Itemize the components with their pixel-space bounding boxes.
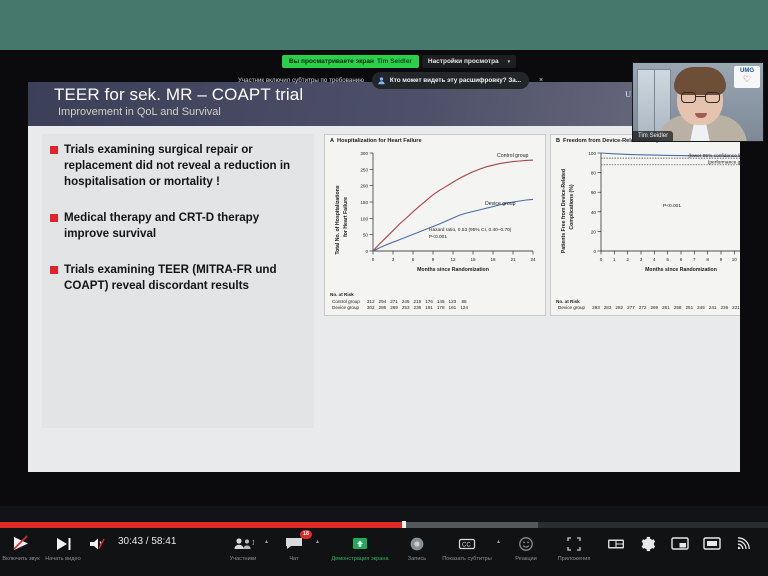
chat-label: Чат xyxy=(289,556,298,562)
svg-text:250: 250 xyxy=(360,167,368,172)
chart-a-series-label-control: Control group xyxy=(497,153,529,159)
chat-unread-badge: 18 xyxy=(300,530,312,539)
svg-text:100: 100 xyxy=(360,216,368,221)
share-screen-icon xyxy=(350,534,370,553)
chart-b-risk-table: No. at Risk Device group 293 283 282 277… xyxy=(556,299,740,312)
video-camera-icon xyxy=(54,534,72,553)
svg-text:125: 125 xyxy=(252,540,254,546)
svg-text:Total No. of Hospitalizations: Total No. of Hospitalizations xyxy=(335,185,341,254)
svg-text:200: 200 xyxy=(360,184,368,189)
chart-b-label-2: (performance goal) 88.0 xyxy=(708,160,740,166)
slide-subtitle: Improvement in QoL and Survival xyxy=(58,106,221,118)
figure-a-letter: A xyxy=(330,138,334,144)
table-row: Device group 302 286 269 253 236 191 178… xyxy=(330,305,470,312)
volume-button[interactable] xyxy=(84,528,110,553)
caption-notice-text: Участник включил субтитры по требованию xyxy=(238,77,364,84)
apps-label: Приложения xyxy=(558,556,591,562)
risk-table-header: No. at Risk xyxy=(556,299,740,306)
closed-captions-icon: CC xyxy=(457,534,477,553)
svg-text:80: 80 xyxy=(591,171,597,176)
viewing-screen-pill: Вы просматриваете экран Tim Seidler xyxy=(282,55,419,68)
svg-text:Patients Free from Device-Rela: Patients Free from Device-Related xyxy=(561,169,567,253)
bullet-square-icon xyxy=(50,214,58,222)
list-item: Medical therapy and CRT-D therapy improv… xyxy=(50,210,304,242)
chart-a-risk-table: No. at Risk Control group 312 294 271 24… xyxy=(330,292,470,312)
chart-a-annotation: Hazard ratio, 0.53 (95% CI, 0.40–0.70) xyxy=(429,227,512,233)
record-icon xyxy=(409,534,425,553)
risk-row-label: Device group xyxy=(330,305,365,312)
svg-text:300: 300 xyxy=(360,151,368,156)
chevron-up-icon[interactable]: ▴ xyxy=(497,538,500,545)
svg-text:60: 60 xyxy=(591,190,597,195)
share-screen-label: Демонстрация экрана xyxy=(331,556,388,562)
figure-panel-b: BFreedom from Device-Related Complicatio… xyxy=(550,134,740,316)
bullet-square-icon xyxy=(50,146,58,154)
svg-text:100: 100 xyxy=(588,151,596,156)
umg-logo: UMG ♡ xyxy=(734,66,760,88)
svg-text:3: 3 xyxy=(640,257,643,262)
chevron-down-icon: ▾ xyxy=(508,59,511,65)
umg-logo-mark: ♡ xyxy=(734,75,760,84)
captions-group: CC Показать субтитры ▴ xyxy=(439,528,500,562)
microphone-muted-icon xyxy=(11,534,31,553)
chart-b-annotation: P<0.001 xyxy=(663,203,681,209)
svg-text:40: 40 xyxy=(591,210,597,215)
apps-button[interactable]: Приложения xyxy=(548,528,600,562)
layout-split-button[interactable] xyxy=(600,528,632,553)
chart-a-series-label-device: Device group xyxy=(485,201,516,207)
svg-text:0: 0 xyxy=(372,257,375,262)
speaker-name-label: Tim Seidler xyxy=(633,131,673,141)
svg-text:2: 2 xyxy=(626,257,629,262)
svg-text:5: 5 xyxy=(666,257,669,262)
reactions-icon xyxy=(518,534,534,553)
chart-a-xlabel: Months since Randomization xyxy=(417,267,489,273)
participants-button[interactable]: 125 Участники xyxy=(223,528,263,562)
speaker-video-thumbnail[interactable]: UMG ♡ Tim Seidler xyxy=(632,62,764,142)
svg-text:8: 8 xyxy=(706,257,709,262)
apps-icon xyxy=(566,534,582,553)
figure-b-letter: B xyxy=(556,138,560,144)
svg-text:21: 21 xyxy=(510,257,516,262)
svg-text:for Heart Failure: for Heart Failure xyxy=(343,197,349,237)
table-row: Control group 312 294 271 245 219 176 14… xyxy=(330,299,470,306)
start-video-label: Начать видео xyxy=(45,556,81,562)
svg-text:24: 24 xyxy=(530,257,536,262)
recording-meta-strip xyxy=(0,506,768,522)
close-icon[interactable]: × xyxy=(539,77,543,84)
reactions-button[interactable]: Реакции xyxy=(504,528,548,562)
svg-text:0: 0 xyxy=(593,249,596,254)
transcript-visibility-chip[interactable]: Кто может видеть эту расшифровку? За... xyxy=(372,72,529,89)
participants-group: 125 Участники ▴ xyxy=(223,528,268,562)
risk-table-header: No. at Risk xyxy=(330,292,470,299)
chart-b-xlabel: Months since Randomization xyxy=(645,267,717,273)
start-video-button[interactable]: Начать видео xyxy=(42,528,84,562)
screen-share-banner: Вы просматриваете экран Tim Seidler Наст… xyxy=(282,55,516,68)
list-item: Trials examining TEER (MITRA-FR und COAP… xyxy=(50,262,304,294)
svg-text:50: 50 xyxy=(363,233,369,238)
svg-text:150: 150 xyxy=(360,200,368,205)
svg-text:0: 0 xyxy=(600,257,603,262)
record-label: Запись xyxy=(408,556,426,562)
meeting-control-bar: Включить звук Начать видео 30:43 / 58:41 xyxy=(0,528,768,576)
fullscreen-button[interactable] xyxy=(696,528,728,553)
svg-text:10: 10 xyxy=(732,257,738,262)
chart-b-label-1: (lower 95% confidence limit) 94.8 xyxy=(688,153,740,159)
svg-text:1: 1 xyxy=(613,257,616,262)
svg-text:18: 18 xyxy=(490,257,496,262)
list-item: Trials examining surgical repair or repl… xyxy=(50,142,304,190)
svg-text:9: 9 xyxy=(432,257,435,262)
chat-button[interactable]: 18 Чат xyxy=(274,528,314,562)
split-view-icon xyxy=(606,534,626,553)
zoom-meeting-window: Запись Вы просматриваете экран Tim Seidl… xyxy=(0,0,768,576)
participants-icon: 125 xyxy=(232,534,254,553)
svg-text:6: 6 xyxy=(412,257,415,262)
chat-group: 18 Чат ▴ xyxy=(274,528,319,562)
figure-a-title: Hospitalization for Heart Failure xyxy=(337,138,422,144)
chevron-up-icon[interactable]: ▴ xyxy=(316,538,319,545)
reactions-label: Реакции xyxy=(515,556,537,562)
transcript-visibility-text: Кто может видеть эту расшифровку? За... xyxy=(390,77,521,84)
cast-button[interactable] xyxy=(728,528,762,553)
chart-a-annotation2: P<0.001 xyxy=(429,234,447,240)
svg-text:Complications (%): Complications (%) xyxy=(569,184,575,230)
playback-time: 30:43 / 58:41 xyxy=(118,528,176,547)
svg-text:6: 6 xyxy=(680,257,683,262)
unmute-button[interactable]: Включить звук xyxy=(0,528,42,562)
bullet-text: Medical therapy and CRT-D therapy improv… xyxy=(64,210,304,242)
bullet-text: Trials examining surgical repair or repl… xyxy=(64,142,304,190)
view-options-label: Настройки просмотра xyxy=(428,58,499,65)
record-button[interactable]: Запись xyxy=(395,528,439,562)
svg-text:CC: CC xyxy=(462,542,471,548)
chevron-up-icon[interactable]: ▴ xyxy=(265,538,268,545)
captions-button[interactable]: CC Показать субтитры xyxy=(439,528,495,562)
participants-label: Участники xyxy=(230,556,257,562)
chart-b-plot: 1008060 40200 012 345 678 91011 xyxy=(551,145,740,275)
svg-text:0: 0 xyxy=(365,249,368,254)
unmute-label: Включить звук xyxy=(2,556,39,562)
captions-label: Показать субтитры xyxy=(442,556,492,562)
picture-in-picture-icon xyxy=(670,534,690,553)
speaker-muted-icon xyxy=(88,534,107,553)
svg-text:7: 7 xyxy=(693,257,696,262)
fullscreen-icon xyxy=(702,534,722,553)
risk-row-label: Device group xyxy=(556,305,590,312)
svg-text:20: 20 xyxy=(591,229,597,234)
speaker-hair xyxy=(674,67,726,95)
person-icon xyxy=(377,76,386,85)
svg-text:15: 15 xyxy=(470,257,476,262)
svg-text:9: 9 xyxy=(720,257,723,262)
viewing-screen-text: Вы просматриваете экран xyxy=(289,58,374,65)
view-options-button[interactable]: Настройки просмотра ▾ xyxy=(422,55,516,68)
figure-panel-a: AHospitalization for Heart Failure 30025… xyxy=(324,134,546,316)
bullet-text: Trials examining TEER (MITRA-FR und COAP… xyxy=(64,262,304,294)
svg-text:4: 4 xyxy=(653,257,656,262)
share-screen-button[interactable]: Демонстрация экрана xyxy=(325,528,395,562)
minimize-view-button[interactable] xyxy=(664,528,696,553)
svg-text:12: 12 xyxy=(450,257,456,262)
settings-button[interactable] xyxy=(632,528,664,553)
cast-icon xyxy=(736,534,754,553)
table-row: Device group 293 283 282 277 272 269 261… xyxy=(556,305,740,312)
figure-a-caption: AHospitalization for Heart Failure xyxy=(330,138,422,144)
caption-notice-bar: Участник включил субтитры по требованию … xyxy=(238,72,543,89)
glasses-icon xyxy=(681,92,720,103)
risk-row-label: Control group xyxy=(330,299,365,306)
chart-a-plot: 300250200 15010050 0 036 91215 182124 xyxy=(325,145,547,275)
svg-text:3: 3 xyxy=(392,257,395,262)
sharing-user-name: Tim Seidler xyxy=(377,58,412,65)
slide-bullet-list: Trials examining surgical repair or repl… xyxy=(42,134,314,428)
bullet-square-icon xyxy=(50,266,58,274)
gear-icon xyxy=(640,534,656,553)
